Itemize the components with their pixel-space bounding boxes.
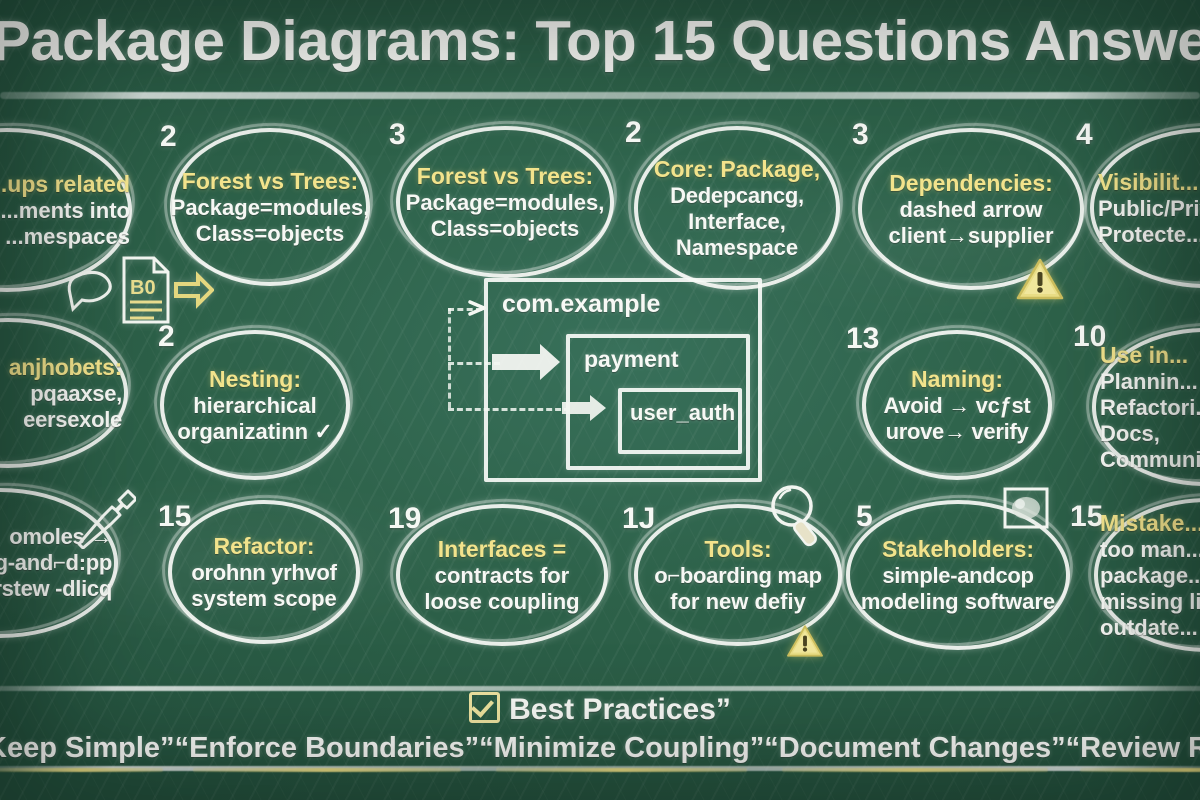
bubble-head: Forest vs Trees: [417,163,593,190]
bubble-head: ...ups related [0,171,130,198]
bubble-head: Dependencies: [889,170,1053,197]
bubble-line: loose coupling [424,589,579,615]
bubble-head: Visibilit... [1098,169,1199,196]
bubble-line: contracts for [435,563,569,589]
bubble-line: Interface, [688,209,786,235]
bubble-line: g-and⌐d:pp [0,550,112,576]
bubble-line: Public/Priv... [1098,196,1200,222]
bubble-head: Use in... [1100,342,1188,369]
bubble-refactor[interactable]: Refactor: orohnn yrhvof system scope [168,500,360,644]
bubble-mistakes[interactable]: Mistake... too man... package... missing… [1094,498,1200,652]
warning-triangle-icon [786,624,832,664]
title-underline [0,92,1200,99]
bubble-line: missing li... [1100,589,1200,615]
bubble-line: Class=objects [431,216,580,242]
bubble-line: package... [1100,563,1200,589]
bubble-line: Communic... [1100,447,1200,473]
bubble-naming[interactable]: Naming: Avoid → vcƒst urove→ verify [862,330,1052,480]
bar-top-rule [0,686,1200,691]
bubble-line: o⌐boarding map [654,563,822,589]
bubble-line: Avoid → vcƒst [884,393,1031,419]
bubble-line: Refactori... [1100,395,1200,421]
best-practices-bar: Best Practices” Keep Simple” “Enforce Bo… [0,686,1200,770]
bubble-line: rstew -dlicq [0,576,112,602]
package-arrowheads [432,278,754,476]
bubble-line: simple-andcop [882,563,1033,589]
check-box-icon [469,692,500,723]
bubble-head: Stakeholders: [882,536,1034,563]
warning-triangle-icon [1016,257,1062,297]
best-practices-heading-label: Best Practices” [509,693,731,726]
bubble-nesting[interactable]: Nesting: hierarchical organizatinn ✓ [160,330,350,480]
bubble-head: anjhobets: [9,354,122,381]
bubble-head: Interfaces = [438,536,567,563]
bubble-line: Protecte... [1098,222,1200,248]
bubble-line: Package=modules, [406,190,605,216]
bubble-line: pqaaxse, [30,381,122,407]
magnifier-icon [766,482,826,556]
package-diagram: com.example payment user_auth [432,278,754,476]
best-practice-item[interactable]: “Document Changes” [764,732,1065,772]
bubble-line: ...ments into [0,198,130,224]
bubble-line: outdate... [1100,615,1198,641]
bubble-interfaces[interactable]: Interfaces = contracts for loose couplin… [396,504,608,646]
bubble-core-concepts[interactable]: Core: Package, Dedepcancg, Interface, Na… [634,126,840,290]
bubble-line: Docs, [1100,421,1160,447]
wrench-icon [72,487,136,549]
best-practice-item[interactable]: “Minimize Coupling” [479,732,764,772]
bubble-use-in[interactable]: Use in... Plannin... Refactori... Docs, … [1092,328,1200,486]
bubble-line: Plannin... [1100,369,1198,395]
bubble-line: Dedepcancg, [670,183,804,209]
bubble-garbled-left-row2[interactable]: anjhobets: pqaaxse, eersexole [0,318,128,468]
bubble-head: Tools: [704,536,771,563]
chalkboard: Package Diagrams: Top 15 Questions Answe… [0,0,1200,800]
bubble-line: orohnn yrhvof [191,560,336,586]
bubble-visibility[interactable]: Visibilit... Public/Priv... Protecte... [1090,128,1200,288]
best-practices-list: Keep Simple” “Enforce Boundaries” “Minim… [0,732,1200,772]
bubble-line: Package=modules, [171,195,370,221]
bubble-line: client→supplier [888,223,1053,249]
bubble-line: for new defiy [670,589,806,615]
bubble-line: dashed arrow [899,197,1042,223]
bubble-line: eersexole [23,407,122,433]
best-practice-item[interactable]: “Enforce Boundaries” [175,732,480,772]
best-practice-item[interactable]: “Review Regula... [1066,732,1200,772]
bubble-line: ...mespaces [5,224,130,250]
bubble-head: Refactor: [214,533,315,560]
bubble-head: Core: Package, [654,156,820,183]
bubble-head: Nesting: [209,366,301,393]
photo-icon [1003,487,1049,529]
bubble-line: organizatinn ✓ [177,419,332,445]
page-title: Package Diagrams: Top 15 Questions Answe… [0,6,1200,76]
bubble-line: urove→ verify [886,419,1029,445]
best-practices-heading: Best Practices” [0,692,1200,727]
bubble-line: modeling software [861,589,1055,615]
bubble-line: Namespace [676,235,798,261]
bubble-head: Mistake... [1100,510,1200,537]
bubble-head: Forest vs Trees: [182,168,358,195]
bubble-forest-vs-trees-3[interactable]: Forest vs Trees: Package=modules, Class=… [396,126,614,278]
bubble-line: system scope [191,586,337,612]
bubble-line: hierarchical [193,393,317,419]
svg-text:B0: B0 [130,277,156,299]
best-practice-item[interactable]: Keep Simple” [0,732,175,772]
bubble-line: Class=objects [196,221,345,247]
bubble-line: too man... [1100,537,1200,563]
bubble-forest-vs-trees-2[interactable]: Forest vs Trees: Package=modules, Class=… [170,128,370,286]
bubble-head: Naming: [911,366,1003,393]
